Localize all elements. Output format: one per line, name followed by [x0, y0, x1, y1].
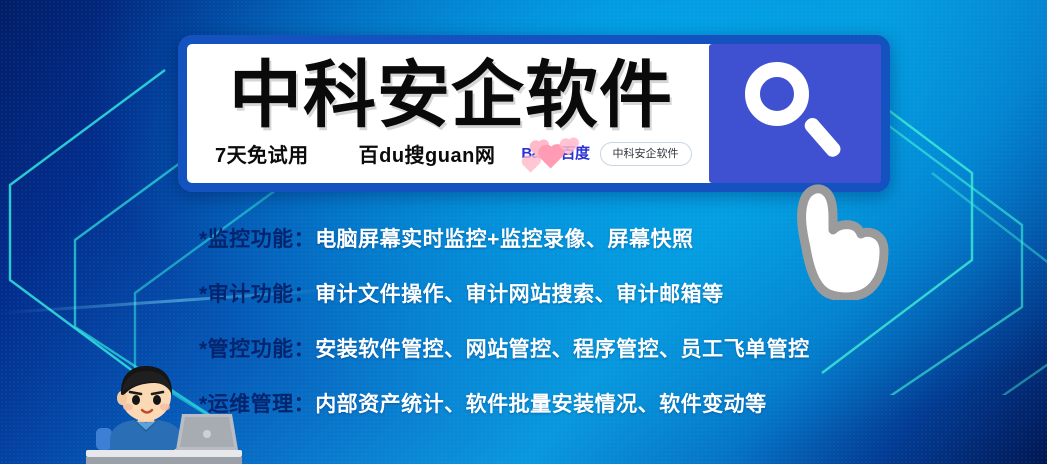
search-bar-left: 中科安企软件 7天免试用 百du搜guan网 Baidu百度 中科安企软件: [187, 44, 709, 183]
feature-text: 审计文件操作、审计网站搜索、审计邮箱等: [315, 278, 724, 308]
magnifier-icon: [743, 62, 847, 166]
feature-text: 内部资产统计、软件批量安装情况、软件变动等: [315, 388, 767, 418]
baidu-search-mock: Baidu百度 中科安企软件: [521, 139, 691, 169]
search-input[interactable]: 中科安企软件: [600, 142, 692, 166]
search-hint-label: 百du搜guan网: [359, 139, 496, 168]
heart-icon: [523, 156, 539, 172]
feature-label: *监控功能：: [199, 223, 315, 253]
feature-text: 电脑屏幕实时监控+监控录像、屏幕快照: [315, 223, 693, 253]
heart-icon: [540, 147, 562, 169]
feature-row: *管控功能： 安装软件管控、网站管控、程序管控、员工飞单管控: [199, 320, 899, 375]
subtitle-row: 7天免试用 百du搜guan网 Baidu百度 中科安企软件: [193, 139, 709, 169]
feature-row: *监控功能： 电脑屏幕实时监控+监控录像、屏幕快照: [199, 210, 899, 265]
feature-list: *监控功能： 电脑屏幕实时监控+监控录像、屏幕快照 *审计功能： 审计文件操作、…: [199, 210, 899, 430]
page-title: 中科安企软件: [193, 57, 709, 135]
feature-text: 安装软件管控、网站管控、程序管控、员工飞单管控: [315, 333, 810, 363]
man-at-laptop-illustration: [86, 356, 242, 464]
feature-row: *审计功能： 审计文件操作、审计网站搜索、审计邮箱等: [199, 265, 899, 320]
magnifier-ring: [745, 62, 809, 126]
feature-label: *审计功能：: [199, 278, 315, 308]
promo-banner: 中科安企软件 7天免试用 百du搜guan网 Baidu百度 中科安企软件: [0, 0, 1047, 464]
feature-row: *运维管理： 内部资产统计、软件批量安装情况、软件变动等: [199, 375, 899, 430]
trial-label: 7天免试用: [215, 139, 309, 168]
baidu-logo: Baidu百度: [521, 146, 589, 161]
